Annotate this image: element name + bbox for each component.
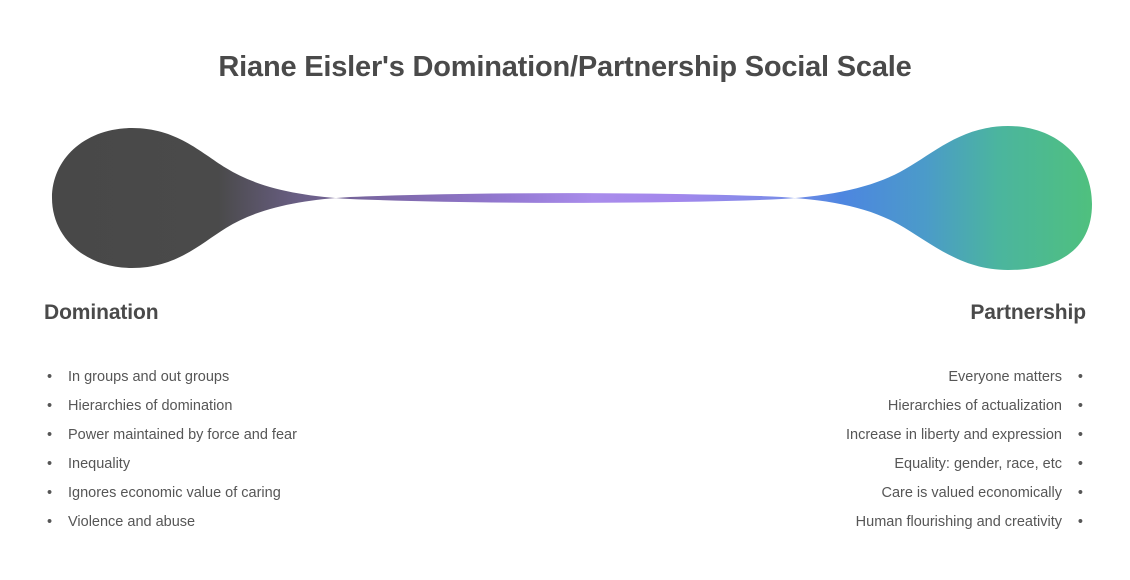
list-item-label: Hierarchies of actualization (888, 398, 1062, 414)
domination-heading: Domination (44, 300, 514, 325)
bullet-icon: • (1078, 392, 1083, 421)
list-item-label: Equality: gender, race, etc (894, 456, 1062, 472)
list-item: Hierarchies of actualization• (616, 392, 1086, 421)
bullet-icon: • (47, 450, 52, 479)
list-item: •Ignores economic value of caring (44, 479, 514, 508)
scale-shape (52, 126, 1092, 270)
bullet-icon: • (1078, 421, 1083, 450)
list-item-label: Everyone matters (948, 369, 1062, 385)
page-title: Riane Eisler's Domination/Partnership So… (0, 50, 1130, 85)
domination-list: •In groups and out groups •Hierarchies o… (44, 363, 514, 537)
list-item: Increase in liberty and expression• (616, 421, 1086, 450)
scale-svg (0, 112, 1130, 282)
list-item: •Power maintained by force and fear (44, 421, 514, 450)
bullet-icon: • (47, 421, 52, 450)
list-item-label: Hierarchies of domination (68, 398, 232, 414)
domination-column: Domination •In groups and out groups •Hi… (44, 300, 514, 537)
list-item: •Hierarchies of domination (44, 392, 514, 421)
list-item-label: Human flourishing and creativity (856, 514, 1062, 530)
list-item: Equality: gender, race, etc• (616, 450, 1086, 479)
bullet-icon: • (1078, 450, 1083, 479)
partnership-column: Partnership Everyone matters• Hierarchie… (616, 300, 1086, 537)
list-item-label: Inequality (68, 456, 130, 472)
list-item-label: Violence and abuse (68, 514, 195, 530)
bullet-icon: • (1078, 363, 1083, 392)
list-item: Care is valued economically• (616, 479, 1086, 508)
list-item: Everyone matters• (616, 363, 1086, 392)
bullet-icon: • (47, 508, 52, 537)
partnership-list: Everyone matters• Hierarchies of actuali… (616, 363, 1086, 537)
list-item: •In groups and out groups (44, 363, 514, 392)
partnership-heading: Partnership (616, 300, 1086, 325)
infographic-page: Riane Eisler's Domination/Partnership So… (0, 0, 1130, 580)
bullet-icon: • (1078, 479, 1083, 508)
list-item: •Violence and abuse (44, 508, 514, 537)
list-item: Human flourishing and creativity• (616, 508, 1086, 537)
list-item-label: Increase in liberty and expression (846, 427, 1062, 443)
social-scale-graphic (0, 112, 1130, 282)
bullet-icon: • (47, 363, 52, 392)
list-item-label: Power maintained by force and fear (68, 427, 297, 443)
list-item-label: Ignores economic value of caring (68, 485, 281, 501)
list-item-label: In groups and out groups (68, 369, 229, 385)
bullet-icon: • (47, 479, 52, 508)
bullet-icon: • (1078, 508, 1083, 537)
list-item: •Inequality (44, 450, 514, 479)
bullet-icon: • (47, 392, 52, 421)
list-item-label: Care is valued economically (881, 485, 1062, 501)
